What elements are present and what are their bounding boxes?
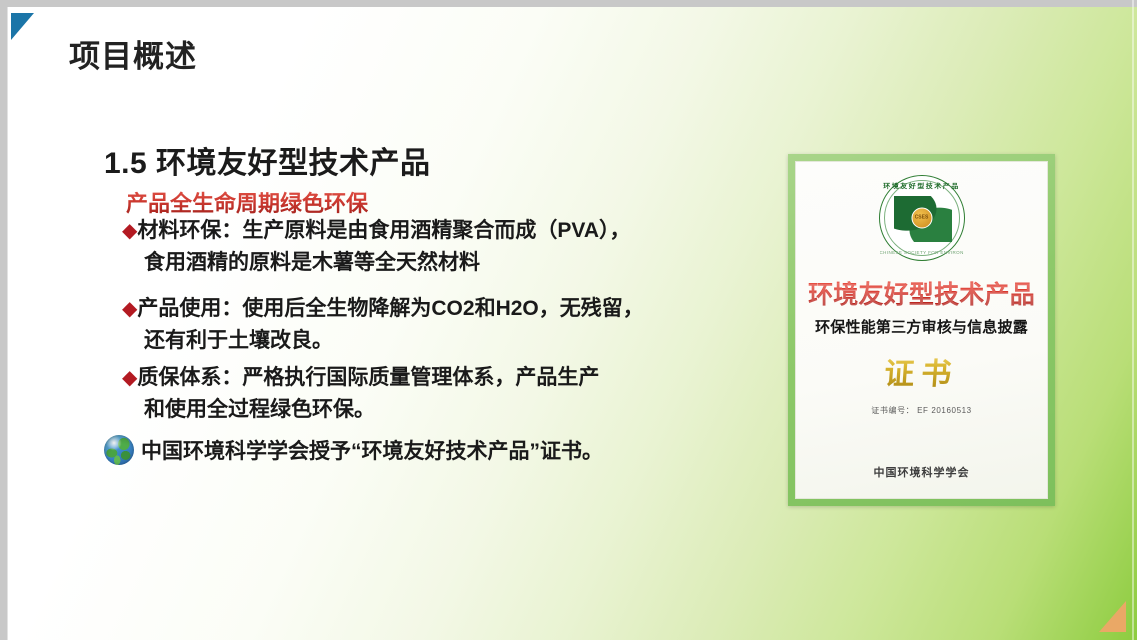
award-note-text: 中国环境科学学会授予“环境友好技术产品”证书。 bbox=[141, 435, 603, 465]
certificate-seal-logo: 环境友好型技术产品 CSES CHINESE SOCIETY FOR ENVIR… bbox=[879, 175, 965, 261]
certificate-inner-panel: 环境友好型技术产品 CSES CHINESE SOCIETY FOR ENVIR… bbox=[795, 161, 1048, 499]
bullet-line-1: 产品使用：使用后全生物降解为CO2和H2O，无残留， bbox=[137, 297, 643, 320]
slide-frame-inner-line bbox=[7, 7, 8, 640]
globe-icon bbox=[104, 435, 134, 465]
bullet-line-2: 食用酒精的原料是木薯等全天然材料 bbox=[122, 247, 682, 278]
seal-core-badge: CSES bbox=[911, 208, 932, 229]
slide-frame-top-border bbox=[0, 0, 1137, 7]
bullet-item: ◆材料环保：生产原料是由食用酒精聚合而成（PVA）， 食用酒精的原料是木薯等全天… bbox=[122, 215, 682, 278]
certificate-headline: 证书 bbox=[794, 349, 1048, 393]
section-heading: 1.5 环境友好型技术产品 bbox=[104, 138, 431, 182]
seal-arc-text-top: 环境友好型技术产品 bbox=[880, 182, 964, 191]
certificate-title: 环境友好型技术产品 bbox=[796, 275, 1047, 311]
blue-triangle-icon bbox=[11, 13, 34, 40]
orange-triangle-icon bbox=[1099, 601, 1126, 632]
certificate-image: 环境友好型技术产品 CSES CHINESE SOCIETY FOR ENVIR… bbox=[788, 154, 1055, 506]
award-note: 中国环境科学学会授予“环境友好技术产品”证书。 bbox=[104, 435, 603, 465]
bullet-item: ◆质保体系：严格执行国际质量管理体系，产品生产 和使用全过程绿色环保。 bbox=[122, 362, 682, 425]
certificate-subtitle: 环保性能第三方审核与信息披露 bbox=[796, 316, 1047, 337]
seal-arc-text-bottom: CHINESE SOCIETY FOR ENVIRONMENTAL SCIENC… bbox=[880, 250, 964, 255]
diamond-bullet-icon: ◆ bbox=[122, 367, 136, 389]
slide-frame-right-highlight bbox=[1132, 0, 1134, 640]
bullet-line-1: 质保体系：严格执行国际质量管理体系，产品生产 bbox=[137, 366, 599, 389]
section-subtitle: 产品全生命周期绿色环保 bbox=[126, 186, 368, 218]
bullet-item: ◆产品使用：使用后全生物降解为CO2和H2O，无残留， 还有利于土壤改良。 bbox=[122, 293, 682, 356]
page-title: 项目概述 bbox=[69, 31, 197, 76]
diamond-bullet-icon: ◆ bbox=[122, 298, 136, 320]
slide-frame-left-border bbox=[0, 0, 7, 640]
bullet-line-2: 还有利于土壤改良。 bbox=[122, 325, 682, 356]
bullet-line-2: 和使用全过程绿色环保。 bbox=[122, 394, 682, 425]
certificate-issuer: 中国环境科学学会 bbox=[796, 464, 1047, 480]
bullet-line-1: 材料环保：生产原料是由食用酒精聚合而成（PVA）， bbox=[137, 219, 630, 242]
slide-canvas: 项目概述 1.5 环境友好型技术产品 产品全生命周期绿色环保 ◆材料环保：生产原… bbox=[0, 0, 1137, 640]
diamond-bullet-icon: ◆ bbox=[122, 220, 136, 242]
certificate-number: 证书编号： EF 20160513 bbox=[796, 405, 1047, 416]
